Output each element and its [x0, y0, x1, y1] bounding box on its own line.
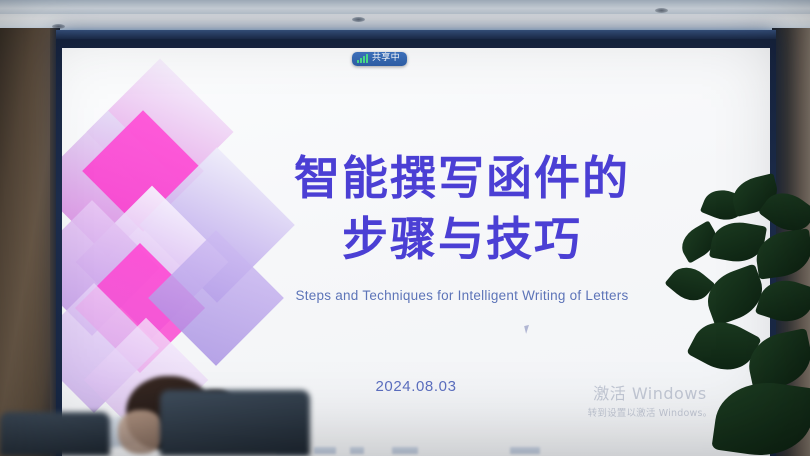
- downlight-icon: [655, 8, 668, 13]
- potted-plant: [660, 176, 810, 456]
- plant-leaf: [711, 376, 810, 456]
- sharing-status-badge[interactable]: 共享中: [352, 52, 407, 66]
- mouse-cursor-icon: [524, 324, 534, 334]
- downlight-icon: [352, 17, 365, 22]
- taskbar-item[interactable]: [314, 447, 336, 454]
- slide-subtitle: Steps and Techniques for Intelligent Wri…: [232, 288, 692, 303]
- display-bezel-highlight: [56, 30, 776, 39]
- office-chair: [0, 412, 110, 456]
- taskbar-item[interactable]: [392, 447, 418, 454]
- attendee-face: [118, 410, 164, 454]
- meeting-room-scene: 智能撰写函件的 步骤与技巧 Steps and Techniques for I…: [0, 0, 810, 456]
- taskbar-item[interactable]: [510, 447, 540, 454]
- plant-leaf: [755, 273, 810, 329]
- sharing-status-label: 共享中: [372, 54, 400, 63]
- slide-title-line2: 步骤与技巧: [232, 209, 692, 270]
- office-chair: [160, 390, 310, 456]
- slide-title-line1: 智能撰写函件的: [294, 151, 630, 205]
- taskbar-item[interactable]: [350, 447, 364, 454]
- slide-title: 智能撰写函件的 步骤与技巧: [232, 148, 692, 269]
- signal-bars-icon: [357, 54, 368, 63]
- ceiling-soffit: [0, 0, 810, 14]
